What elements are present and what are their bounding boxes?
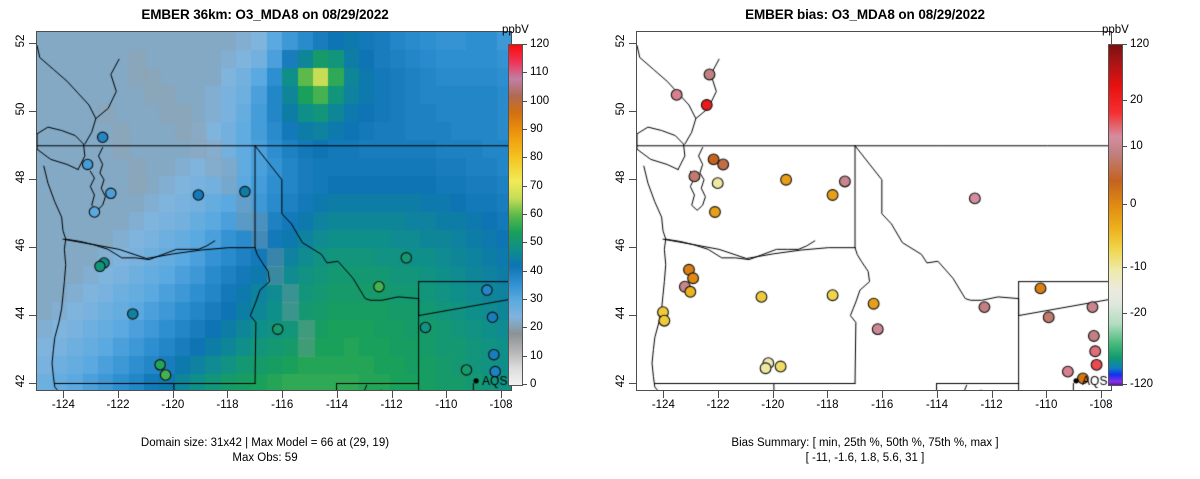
x-tick (773, 391, 774, 398)
colorbar-tick-label: 120 (530, 38, 549, 50)
colorbar-tick-label: 20 (530, 321, 543, 333)
x-tick-label: -116 (271, 399, 293, 411)
colorbar-tick-label: 0 (1130, 198, 1136, 210)
colorbar-tick-label: 70 (530, 180, 543, 192)
x-tick (282, 391, 283, 398)
colorbar-tick (1122, 313, 1127, 314)
colorbar-gradient-model (508, 44, 523, 386)
caption-model-line2: Max Obs: 59 (0, 451, 530, 465)
colorbar-tick-label: -20 (1130, 307, 1147, 319)
colorbar-tick (522, 101, 527, 102)
x-tick-label: -120 (161, 399, 184, 411)
colorbar-tick (522, 271, 527, 272)
colorbar-tick (522, 129, 527, 130)
x-tick (446, 391, 447, 398)
colorbar-tick-label: 60 (530, 208, 543, 220)
x-tick (501, 391, 502, 398)
colorbar-tick-label: 100 (530, 95, 549, 107)
colorbar-tick-label: 120 (1130, 38, 1149, 50)
x-tick-label: -120 (761, 399, 784, 411)
colorbar-tick (522, 299, 527, 300)
colorbar-tick (1122, 384, 1127, 385)
x-tick-label: -108 (1090, 399, 1113, 411)
x-tick-label: -118 (816, 399, 838, 411)
colorbar-tick-label: 40 (530, 265, 543, 277)
colorbar-tick-label: -120 (1130, 378, 1153, 390)
colorbar-tick (522, 384, 527, 385)
panel-model: EMBER 36km: O3_MDA8 on 08/29/2022 -124-1… (0, 0, 600, 479)
colorbar-tick (522, 242, 527, 243)
map-plot-model (36, 31, 512, 391)
colorbar-tick-label: 90 (530, 123, 543, 135)
bias-map-canvas (637, 32, 1112, 391)
x-tick-label: -114 (926, 399, 948, 411)
colorbar-tick-label: 110 (530, 66, 548, 78)
colorbar-bias: ppbV -120-20-1001020120 (600, 0, 692, 479)
caption-model-line1: Domain size: 31x42 | Max Model = 66 at (… (0, 436, 530, 450)
x-tick (718, 391, 719, 398)
colorbar-tick-label: 30 (530, 293, 543, 305)
colorbar-model: ppbV 0102030405060708090100110120 (0, 0, 92, 479)
x-tick-label: -122 (107, 399, 130, 411)
colorbar-tick (522, 327, 527, 328)
x-tick-label: -110 (1035, 399, 1057, 411)
colorbar-tick (522, 356, 527, 357)
colorbar-tick (1122, 267, 1127, 268)
x-tick-label: -114 (326, 399, 348, 411)
x-tick (173, 391, 174, 398)
x-tick (827, 391, 828, 398)
colorbar-tick-label: 10 (1130, 140, 1143, 152)
colorbar-tick-label: 50 (530, 236, 543, 248)
colorbar-tick (522, 186, 527, 187)
colorbar-tick-label: 80 (530, 151, 543, 163)
colorbar-tick (1122, 100, 1127, 101)
colorbar-tick-label: 0 (530, 378, 536, 390)
x-tick-label: -116 (871, 399, 893, 411)
x-tick (337, 391, 338, 398)
colorbar-tick (1122, 146, 1127, 147)
x-tick (937, 391, 938, 398)
colorbar-tick (522, 214, 527, 215)
colorbar-tick (522, 72, 527, 73)
x-tick-label: -112 (381, 399, 403, 411)
colorbar-tick-label: -10 (1130, 261, 1147, 273)
x-tick (118, 391, 119, 398)
x-tick (1046, 391, 1047, 398)
colorbar-tick-label: 10 (530, 350, 543, 362)
colorbar-tick-label: 20 (1130, 94, 1143, 106)
x-tick-label: -108 (490, 399, 513, 411)
colorbar-gradient-bias (1108, 44, 1123, 386)
x-tick (992, 391, 993, 398)
model-heatmap-canvas (37, 32, 512, 391)
colorbar-tick (522, 44, 527, 45)
caption-bias-line2: [ -11, -1.6, 1.8, 5.6, 31 ] (600, 451, 1130, 465)
figure-root: EMBER 36km: O3_MDA8 on 08/29/2022 -124-1… (0, 0, 1200, 479)
x-tick (227, 391, 228, 398)
panel-bias: EMBER bias: O3_MDA8 on 08/29/2022 -124-1… (600, 0, 1200, 479)
colorbar-tick (1122, 44, 1127, 45)
map-plot-bias (636, 31, 1112, 391)
colorbar-title-model: ppbV (502, 24, 529, 36)
caption-bias-line1: Bias Summary: [ min, 25th %, 50th %, 75t… (600, 436, 1130, 450)
x-tick-label: -122 (707, 399, 730, 411)
colorbar-tick (1122, 204, 1127, 205)
colorbar-tick (522, 157, 527, 158)
x-tick (882, 391, 883, 398)
x-tick-label: -118 (216, 399, 238, 411)
x-tick-label: -112 (981, 399, 1003, 411)
x-tick (392, 391, 393, 398)
x-tick-label: -110 (435, 399, 457, 411)
colorbar-title-bias: ppbV (1102, 24, 1129, 36)
x-tick (1101, 391, 1102, 398)
